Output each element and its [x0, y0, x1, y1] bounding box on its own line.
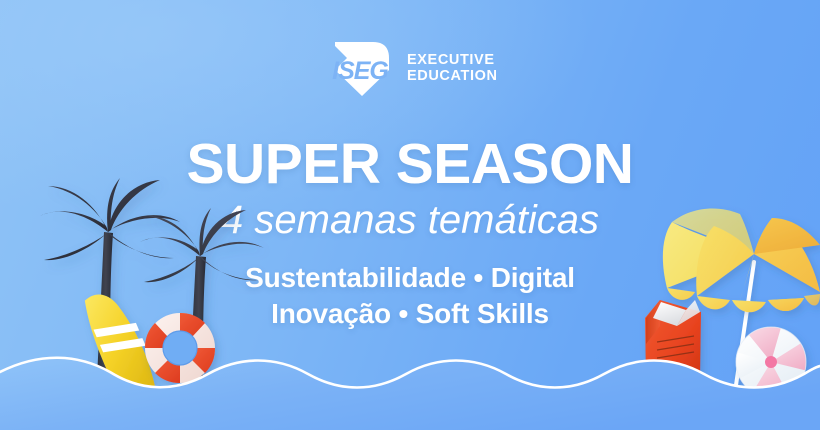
topics-line-2: Inovação • Soft Skills: [0, 296, 820, 332]
brand-logo: ISEG EXECUTIVE EDUCATION: [327, 36, 527, 100]
iseg-logo-wordmark: ISEG: [332, 57, 388, 85]
book-cover-lines: [657, 336, 694, 358]
logo-tagline: EXECUTIVE EDUCATION: [407, 52, 498, 84]
promo-banner: ISEG EXECUTIVE EDUCATION SUPER SEASON 4 …: [0, 0, 820, 430]
subheadline: 4 semanas temáticas: [0, 197, 820, 243]
headline-title: SUPER SEASON: [0, 135, 820, 193]
beach-ball: [733, 324, 812, 400]
logo-tagline-line2: EDUCATION: [407, 68, 498, 84]
ocean-wave: [0, 358, 820, 430]
logo-tagline-line1: EXECUTIVE: [407, 52, 498, 68]
topics-line-1: Sustentabilidade • Digital: [0, 260, 820, 296]
beach-ball-hub: [765, 356, 777, 368]
topics-list: Sustentabilidade • Digital Inovação • So…: [0, 260, 820, 332]
iseg-logo-icon: ISEG: [327, 36, 397, 100]
